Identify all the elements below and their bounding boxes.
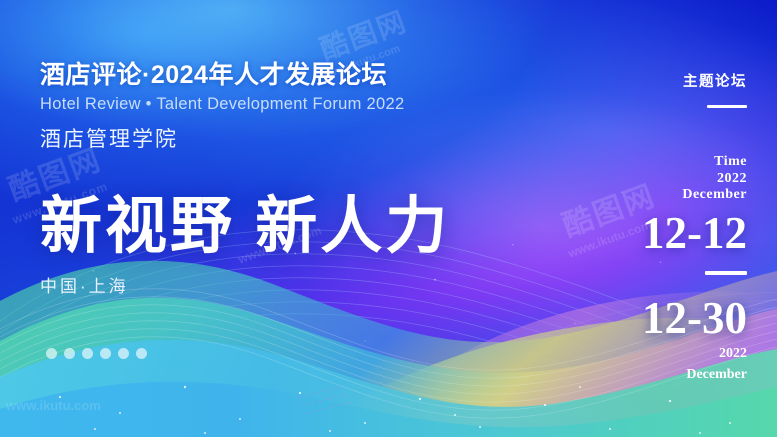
brand-block: 酒店评论·2024年人才发展论坛 Hotel Review • Talent D… [40,62,510,153]
dot [82,348,93,359]
event-poster: 酒店评论·2024年人才发展论坛 Hotel Review • Talent D… [0,0,777,437]
end-month: December [607,367,747,384]
watermark-url: www.ikutu.com [6,398,101,413]
date-end: 12-30 [607,295,747,342]
end-year: 2022 [607,346,747,363]
date-end-block: 12-30 2022 December [607,295,747,384]
divider-dates [705,271,747,275]
divider [707,105,747,108]
panel-title: 主题论坛 [607,70,747,91]
dot [64,348,75,359]
time-label: Time [607,154,747,171]
event-title-en: Hotel Review • Talent Development Forum … [40,95,510,114]
event-location: 中国·上海 [40,272,450,297]
dot [118,348,129,359]
organizer-name: 酒店管理学院 [40,123,510,153]
headline-block: 新视野 新人力 中国·上海 [40,196,450,297]
page-title: 新视野 新人力 [40,196,450,258]
dot [136,348,147,359]
event-title-cn: 酒店评论·2024年人才发展论坛 [40,62,510,90]
dot-row-decoration [46,348,147,359]
dot [100,348,111,359]
dot [46,348,57,359]
